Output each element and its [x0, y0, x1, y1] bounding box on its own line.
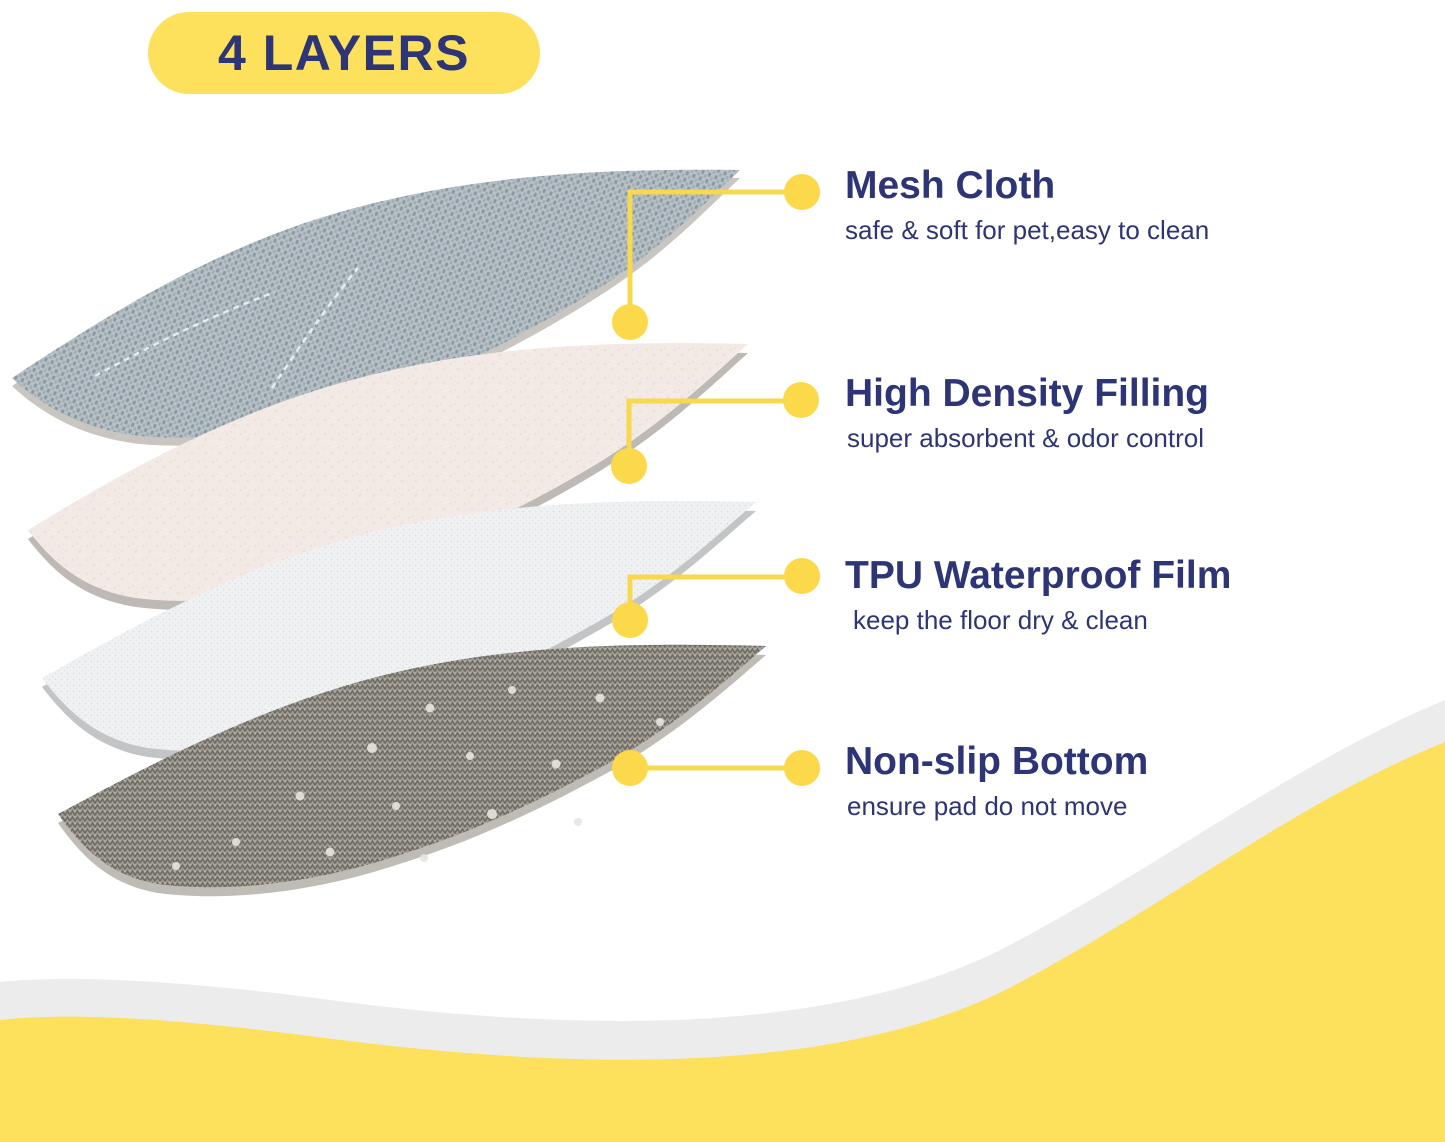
callout-mesh-cloth: Mesh Cloth safe & soft for pet,easy to c…: [845, 166, 1209, 246]
callout-subtitle-tpu-waterproof-film: keep the floor dry & clean: [853, 606, 1231, 636]
product-layers-infographic: 4 LAYERS: [0, 0, 1445, 1142]
callout-non-slip-bottom: Non-slip Bottom ensure pad do not move: [845, 742, 1148, 822]
callout-high-density-filling: High Density Filling super absorbent & o…: [845, 374, 1209, 454]
callout-title-non-slip-bottom: Non-slip Bottom: [845, 742, 1148, 783]
callout-subtitle-mesh-cloth: safe & soft for pet,easy to clean: [845, 216, 1209, 246]
callout-subtitle-non-slip-bottom: ensure pad do not move: [847, 792, 1148, 822]
callout-title-mesh-cloth: Mesh Cloth: [845, 166, 1209, 207]
callout-title-tpu-waterproof-film: TPU Waterproof Film: [845, 556, 1231, 597]
layers-badge-label: 4 LAYERS: [218, 28, 470, 78]
callout-subtitle-high-density-filling: super absorbent & odor control: [847, 424, 1209, 454]
callout-tpu-waterproof-film: TPU Waterproof Film keep the floor dry &…: [845, 556, 1231, 636]
layer-stack-illustration: [0, 150, 820, 940]
layers-badge: 4 LAYERS: [148, 12, 540, 94]
callout-title-high-density-filling: High Density Filling: [845, 374, 1209, 415]
